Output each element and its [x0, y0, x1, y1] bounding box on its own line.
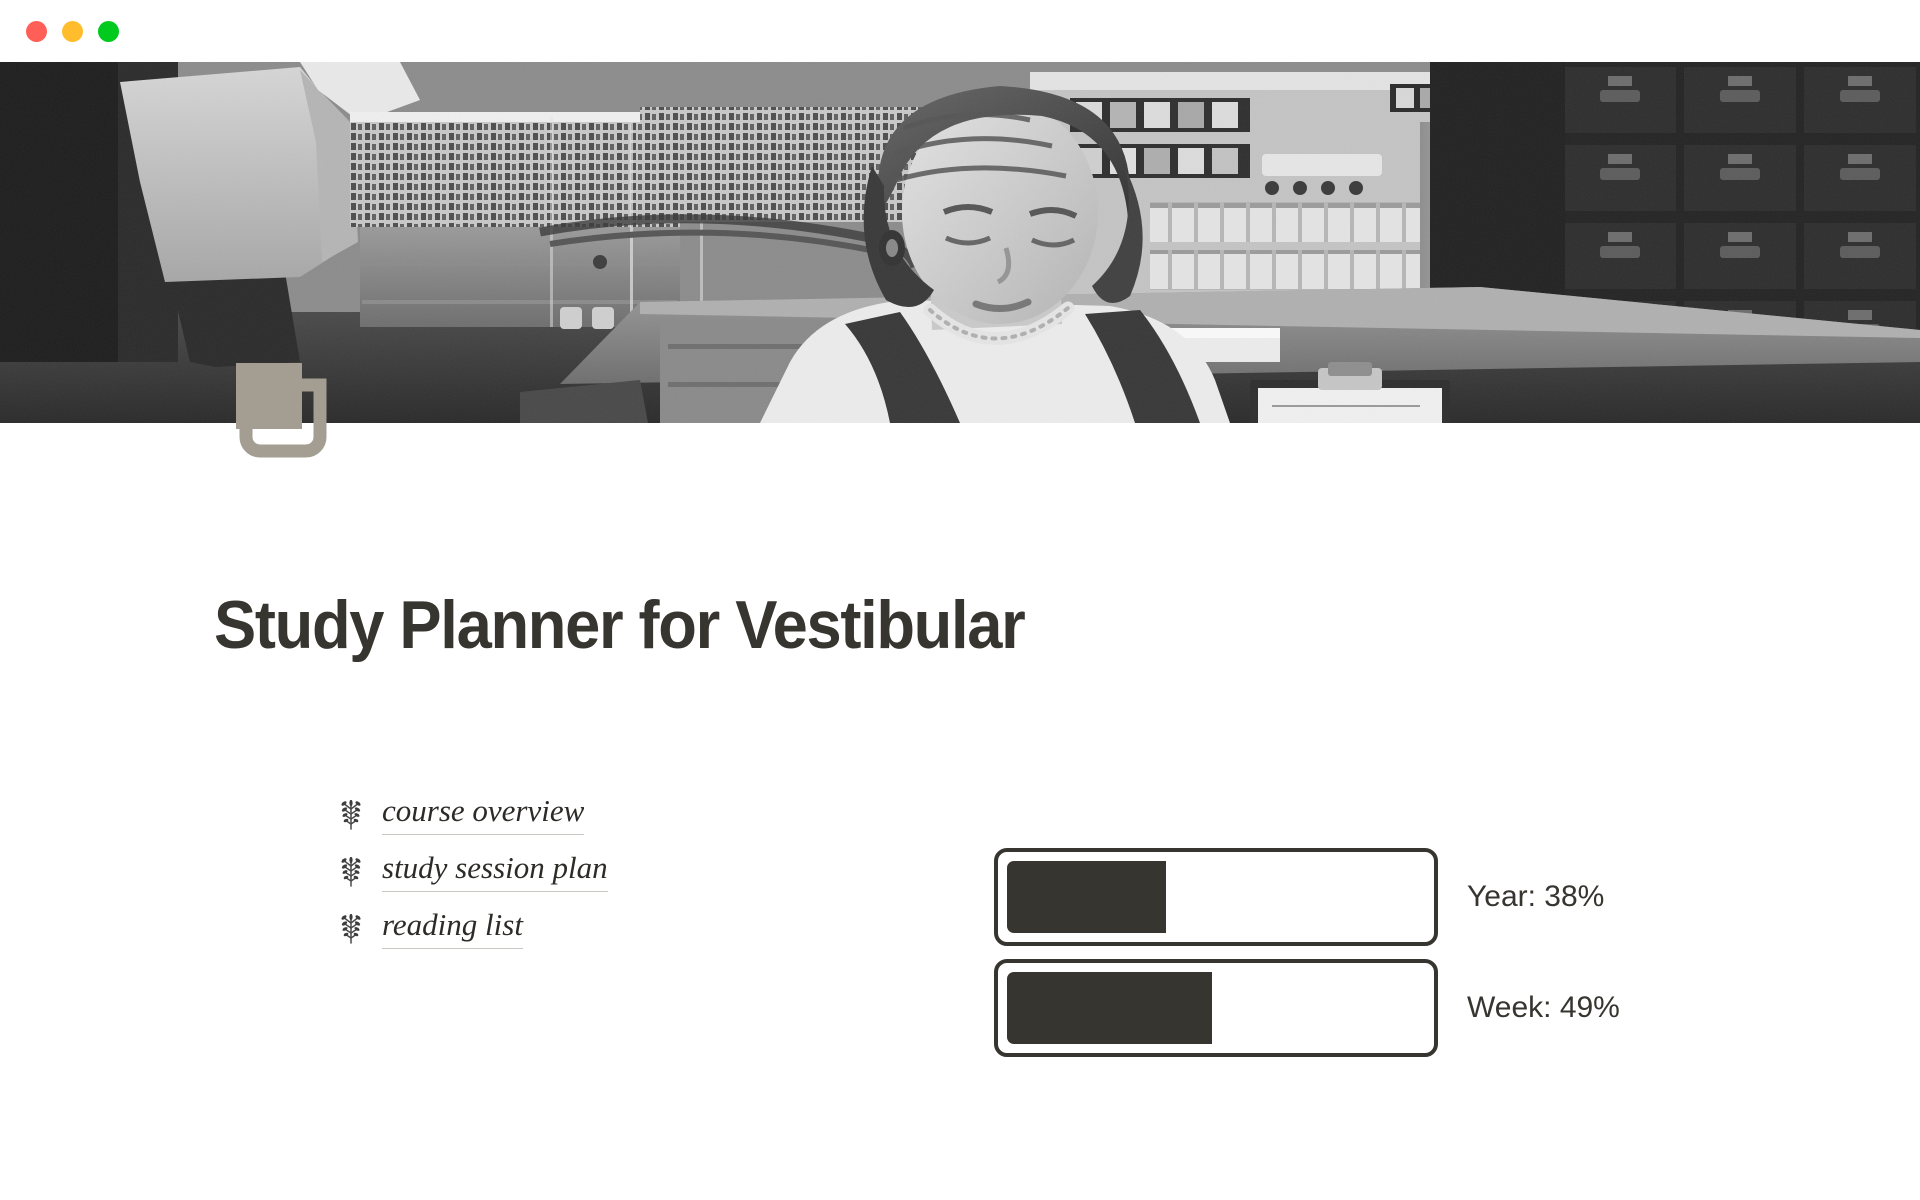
week-progress-bar[interactable]: [994, 959, 1438, 1057]
herb-sprig-icon: [338, 857, 364, 887]
maximize-window-button[interactable]: [98, 21, 119, 42]
page-content: Study Planner for Vestibular: [0, 423, 1920, 1200]
year-progress-label: Year: 38%: [1467, 880, 1604, 914]
quick-links-list: course overview: [338, 795, 608, 949]
list-item[interactable]: reading list: [338, 909, 608, 949]
progress-row-week: Week: 49%: [994, 959, 1620, 1057]
window-titlebar: [0, 0, 1920, 62]
link-course-overview[interactable]: course overview: [382, 795, 584, 835]
herb-sprig-icon: [338, 800, 364, 830]
list-item[interactable]: course overview: [338, 795, 608, 835]
page-title: Study Planner for Vestibular: [214, 586, 1024, 664]
year-progress-bar[interactable]: [994, 848, 1438, 946]
app-window: Study Planner for Vestibular: [0, 0, 1920, 1200]
list-item[interactable]: study session plan: [338, 852, 608, 892]
duplicate-documents-icon[interactable]: [228, 355, 338, 465]
close-window-button[interactable]: [26, 21, 47, 42]
progress-row-year: Year: 38%: [994, 848, 1620, 946]
week-progress-label: Week: 49%: [1467, 991, 1620, 1025]
minimize-window-button[interactable]: [62, 21, 83, 42]
week-progress-fill: [1007, 972, 1212, 1044]
progress-section: Year: 38% Week: 49%: [994, 848, 1620, 1057]
herb-sprig-icon: [338, 914, 364, 944]
year-progress-fill: [1007, 861, 1166, 933]
link-study-session-plan[interactable]: study session plan: [382, 852, 608, 892]
traffic-light-controls: [26, 21, 119, 42]
link-reading-list[interactable]: reading list: [382, 909, 523, 949]
